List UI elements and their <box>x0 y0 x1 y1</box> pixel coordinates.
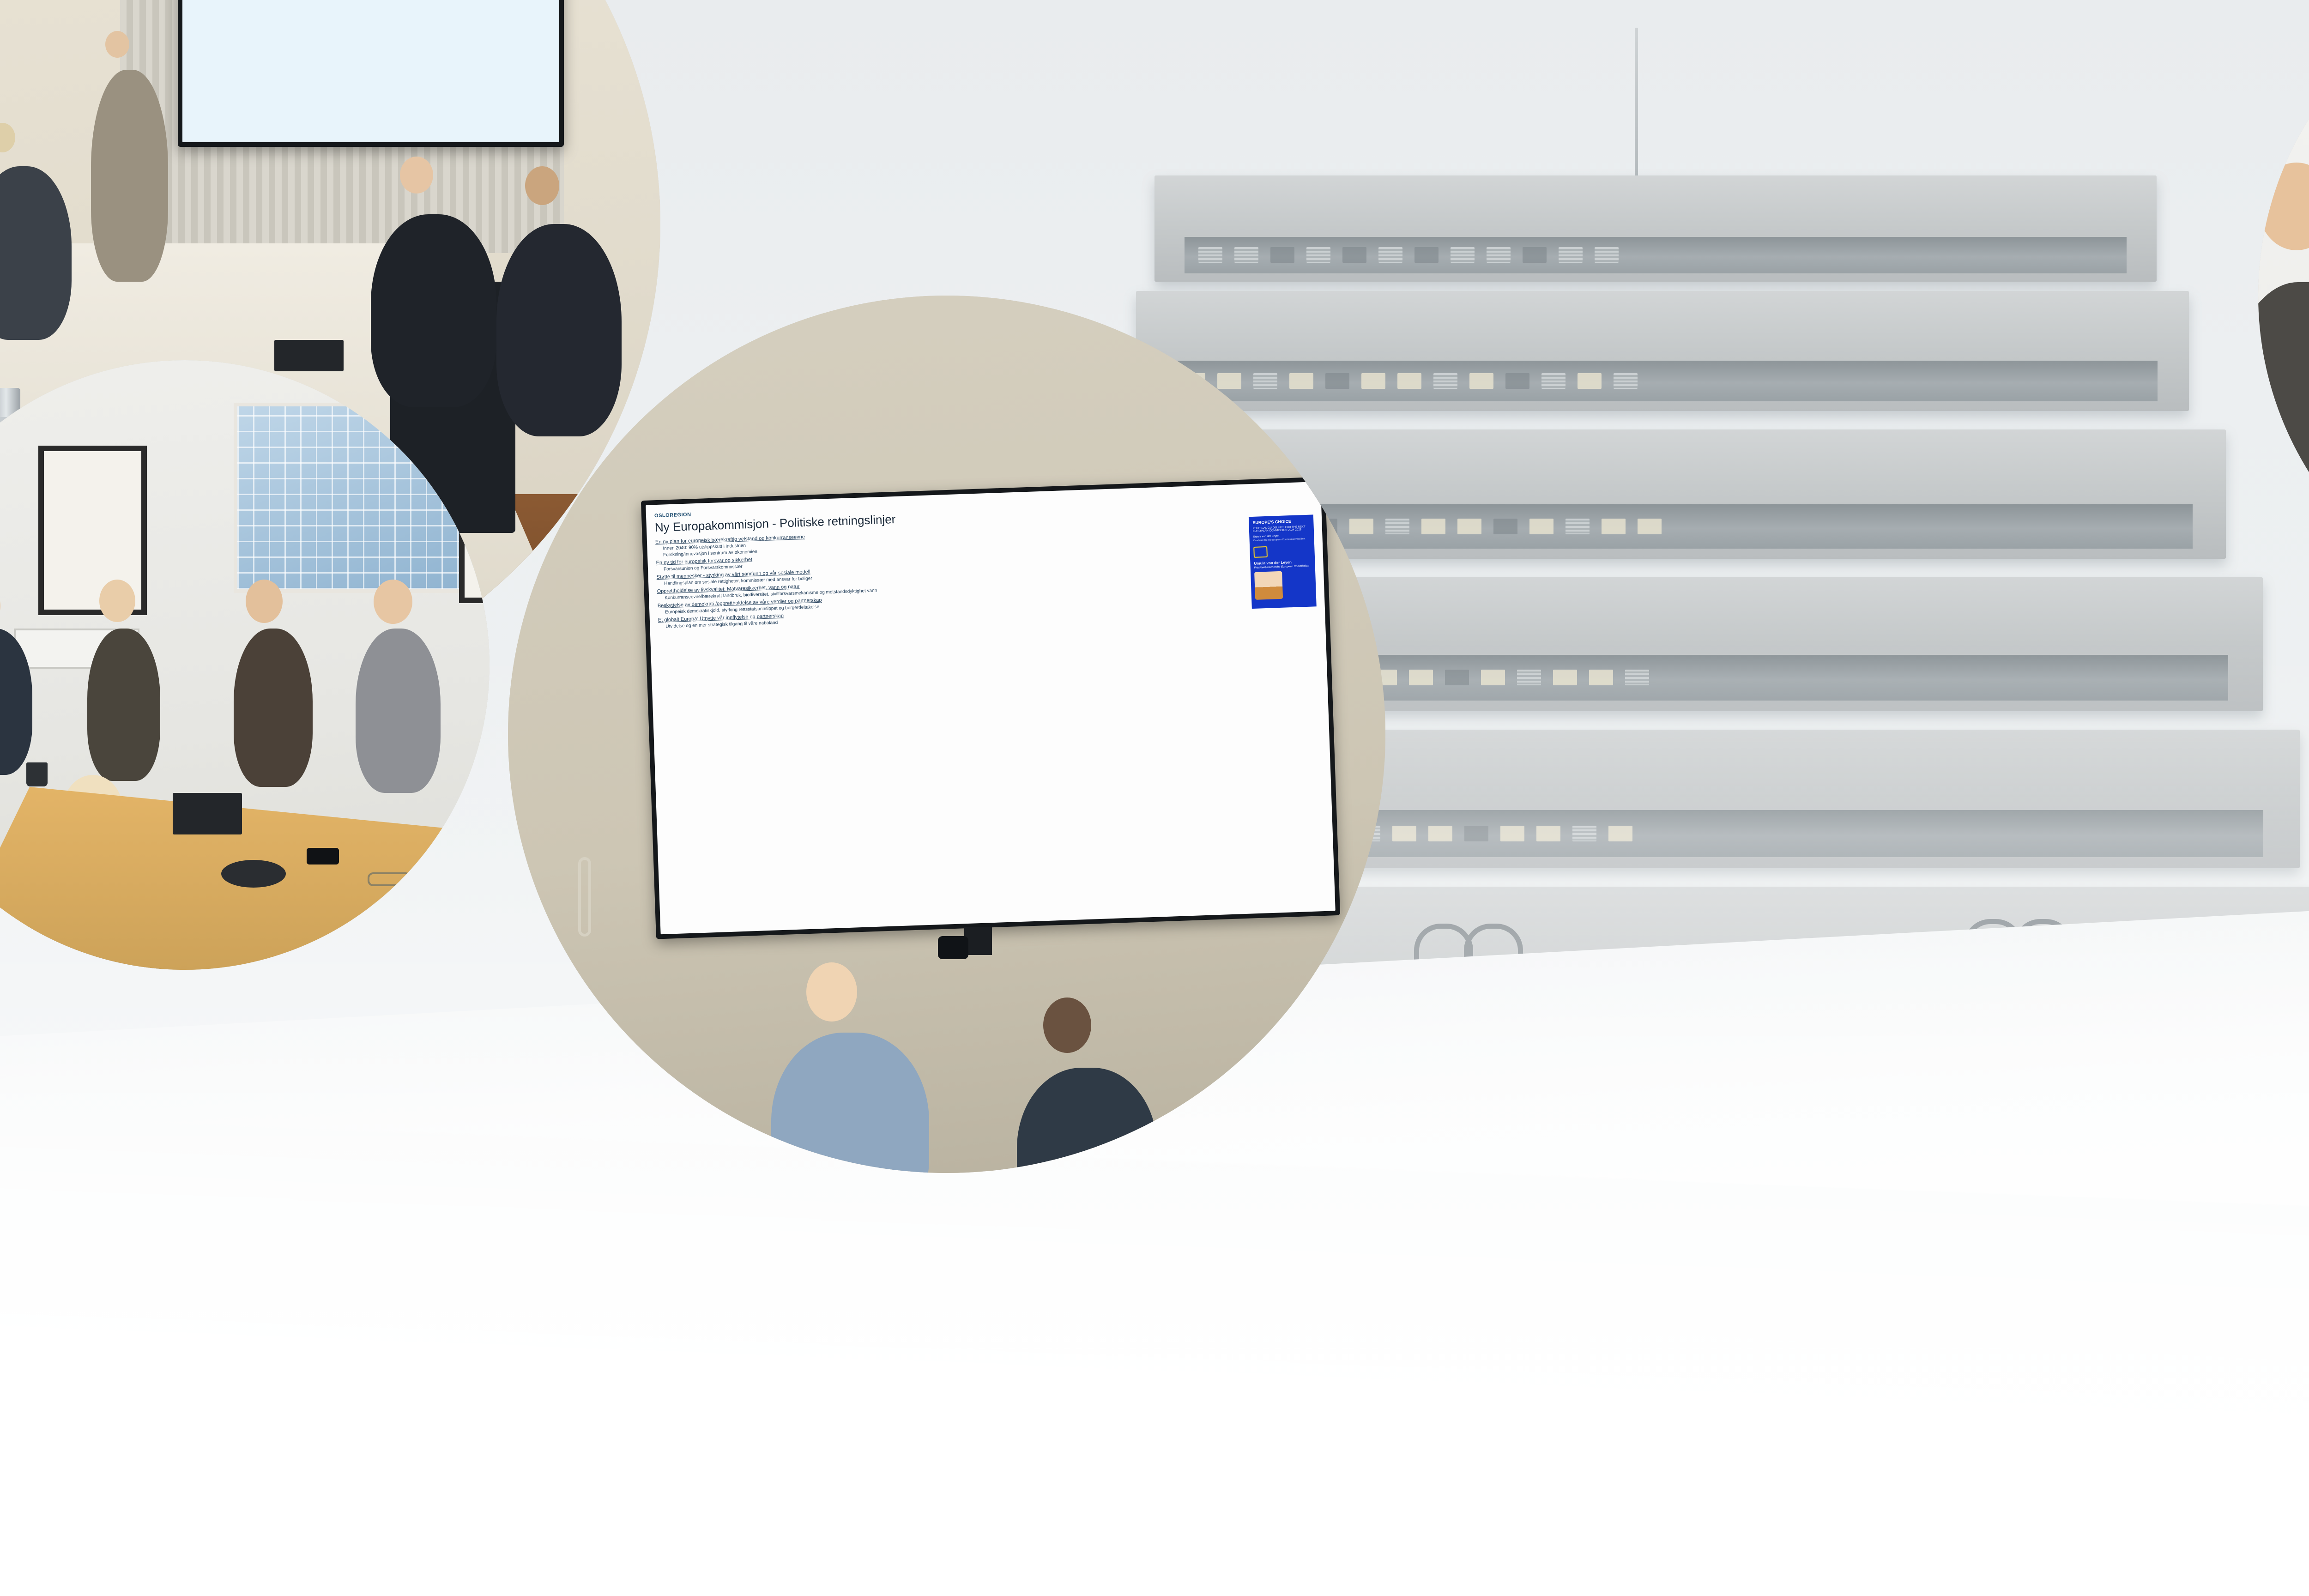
participant-head <box>1043 997 1091 1053</box>
window <box>1392 826 1416 841</box>
presenter-head <box>105 31 129 58</box>
window <box>1414 247 1439 263</box>
slide-logo: OSLOREGION <box>654 512 691 519</box>
presenter <box>91 70 168 282</box>
photo-eu-commission-slide-main: OSLOREGION Ny Europakommisjon - Politisk… <box>508 296 1385 1173</box>
window <box>1469 373 1493 389</box>
window <box>1428 826 1452 841</box>
eyeglasses <box>368 872 411 886</box>
participant-head <box>400 157 433 193</box>
framed-picture <box>459 458 490 603</box>
window <box>1500 826 1524 841</box>
window <box>1270 247 1294 263</box>
glass-block-window <box>234 403 485 593</box>
window <box>1517 670 1541 685</box>
window <box>1566 519 1590 534</box>
meeting-participant <box>356 629 441 793</box>
portrait-photo <box>1254 571 1283 600</box>
photo-content: OSLOREGION Ny Europakommisjon - Politisk… <box>508 296 1385 1173</box>
window <box>1234 247 1258 263</box>
eu-flag-icon <box>1253 546 1268 558</box>
window <box>1421 519 1445 534</box>
meeting-participant <box>234 629 313 787</box>
monitor-stand <box>964 927 992 955</box>
presentation-screen: OSLOREGION Ny Europakommisjon - Politisk… <box>641 477 1340 939</box>
window <box>1198 247 1222 263</box>
window <box>1572 826 1596 841</box>
side-panel-subheading: POLITICAL GUIDELINES FOR THE NEXT EUROPE… <box>1253 526 1310 533</box>
participant-head <box>806 962 857 1022</box>
participant-head <box>525 166 559 205</box>
window <box>1493 519 1517 534</box>
participant-head <box>99 580 135 622</box>
side-panel-heading: EUROPE'S CHOICE <box>1252 519 1310 525</box>
window <box>1464 826 1488 841</box>
window <box>1433 373 1457 389</box>
window <box>1409 670 1433 685</box>
window <box>1529 519 1553 534</box>
mobile-phone[interactable] <box>307 848 339 864</box>
photo-content <box>0 360 490 970</box>
window <box>1553 670 1577 685</box>
window <box>1602 519 1626 534</box>
window <box>1481 670 1505 685</box>
window <box>1625 670 1649 685</box>
presentation-screen: OSLOREGION Osloregionens Europakontor – … <box>178 0 564 147</box>
webcam[interactable] <box>938 936 968 959</box>
collage-banner: OSLOREGION Osloregionens Europakontor – … <box>0 0 2309 1596</box>
cable-hook <box>578 857 591 937</box>
window <box>1589 670 1613 685</box>
participant-head <box>374 580 412 624</box>
slide-side-panel: EUROPE'S CHOICE POLITICAL GUIDELINES FOR… <box>1249 514 1317 609</box>
window <box>1445 670 1469 685</box>
laptop[interactable] <box>173 793 242 834</box>
window <box>1378 247 1402 263</box>
window <box>1306 247 1330 263</box>
meeting-participant <box>87 629 160 781</box>
window <box>1385 519 1409 534</box>
coffee-mug <box>26 762 48 786</box>
window <box>1342 247 1366 263</box>
participant-head <box>246 580 283 623</box>
slide-osloregion: OSLOREGION Osloregionens Europakontor – … <box>182 0 559 142</box>
photo-meeting-glassblock-room <box>0 360 490 970</box>
window <box>1457 519 1481 534</box>
slide-eu-commission: OSLOREGION Ny Europakommisjon - Politisk… <box>646 482 1336 934</box>
window <box>1397 373 1421 389</box>
window <box>1608 826 1632 841</box>
window <box>1536 826 1560 841</box>
